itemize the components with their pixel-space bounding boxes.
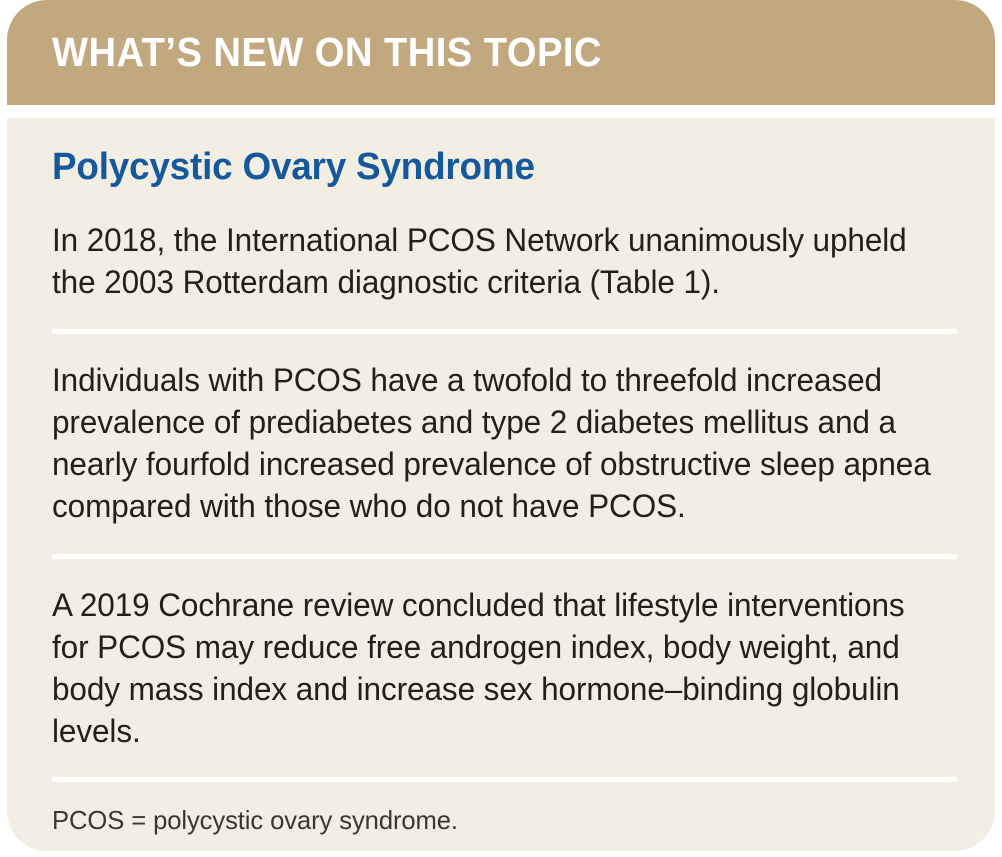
divider-1	[52, 329, 957, 334]
whats-new-card: WHAT’S NEW ON THIS TOPIC Polycystic Ovar…	[7, 0, 995, 851]
card-header-title: WHAT’S NEW ON THIS TOPIC	[52, 28, 602, 76]
paragraph-diagnostic-criteria: In 2018, the International PCOS Network …	[52, 190, 939, 303]
card-body-panel: Polycystic Ovary Syndrome In 2018, the I…	[7, 118, 995, 851]
card-header-bar: WHAT’S NEW ON THIS TOPIC	[7, 0, 995, 105]
divider-2	[52, 554, 957, 559]
divider-3	[52, 777, 957, 782]
abbreviation-footnote: PCOS = polycystic ovary syndrome.	[52, 804, 939, 836]
page-title: Polycystic Ovary Syndrome	[52, 118, 925, 190]
paragraph-lifestyle-interventions: A 2019 Cochrane review concluded that li…	[52, 584, 939, 752]
card-content: Polycystic Ovary Syndrome In 2018, the I…	[52, 118, 952, 836]
paragraph-comorbidity-prevalence: Individuals with PCOS have a twofold to …	[52, 359, 939, 527]
